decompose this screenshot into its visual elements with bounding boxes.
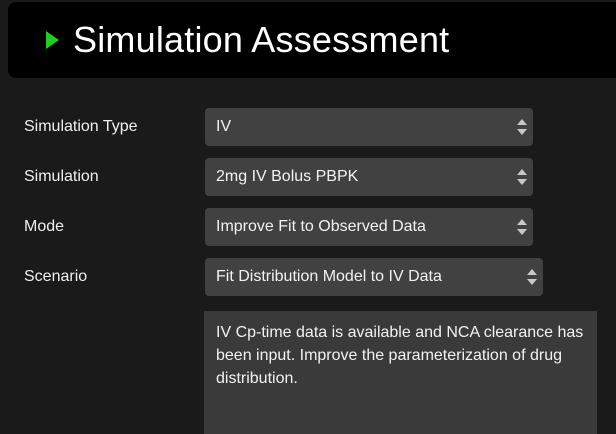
form-row-simulation: Simulation 2mg IV Bolus PBPK xyxy=(0,158,616,196)
chevron-down-icon[interactable] xyxy=(517,179,527,185)
form-row-mode: Mode Improve Fit to Observed Data xyxy=(0,208,616,246)
stepper-arrows-icon[interactable] xyxy=(511,208,533,246)
dropdown-scenario-value: Fit Distribution Model to IV Data xyxy=(216,268,521,286)
label-simulation-type: Simulation Type xyxy=(24,118,138,136)
label-scenario: Scenario xyxy=(24,268,87,286)
chevron-down-icon[interactable] xyxy=(517,129,527,135)
chevron-down-icon[interactable] xyxy=(517,229,527,235)
form-row-scenario: Scenario Fit Distribution Model to IV Da… xyxy=(0,258,616,296)
dropdown-simulation-type-value: IV xyxy=(216,118,511,136)
form-row-simulation-type: Simulation Type IV xyxy=(0,108,616,146)
scenario-description-panel: IV Cp-time data is available and NCA cle… xyxy=(204,311,597,434)
scenario-description-text: IV Cp-time data is available and NCA cle… xyxy=(216,321,585,390)
dropdown-mode[interactable]: Improve Fit to Observed Data xyxy=(205,208,533,246)
chevron-up-icon[interactable] xyxy=(517,169,527,175)
dropdown-scenario[interactable]: Fit Distribution Model to IV Data xyxy=(205,258,543,296)
label-simulation: Simulation xyxy=(24,168,99,186)
simulation-assessment-header[interactable]: Simulation Assessment xyxy=(8,2,616,78)
chevron-up-icon[interactable] xyxy=(527,269,537,275)
dropdown-simulation-type[interactable]: IV xyxy=(205,108,533,146)
dropdown-simulation-value: 2mg IV Bolus PBPK xyxy=(216,168,511,186)
dropdown-simulation[interactable]: 2mg IV Bolus PBPK xyxy=(205,158,533,196)
stepper-arrows-icon[interactable] xyxy=(521,258,543,296)
chevron-up-icon[interactable] xyxy=(517,119,527,125)
dropdown-mode-value: Improve Fit to Observed Data xyxy=(216,218,511,236)
chevron-up-icon[interactable] xyxy=(517,219,527,225)
label-mode: Mode xyxy=(24,218,64,236)
chevron-down-icon[interactable] xyxy=(527,279,537,285)
stepper-arrows-icon[interactable] xyxy=(511,108,533,146)
disclosure-triangle-icon[interactable] xyxy=(46,31,59,49)
page-title: Simulation Assessment xyxy=(73,19,449,61)
stepper-arrows-icon[interactable] xyxy=(511,158,533,196)
